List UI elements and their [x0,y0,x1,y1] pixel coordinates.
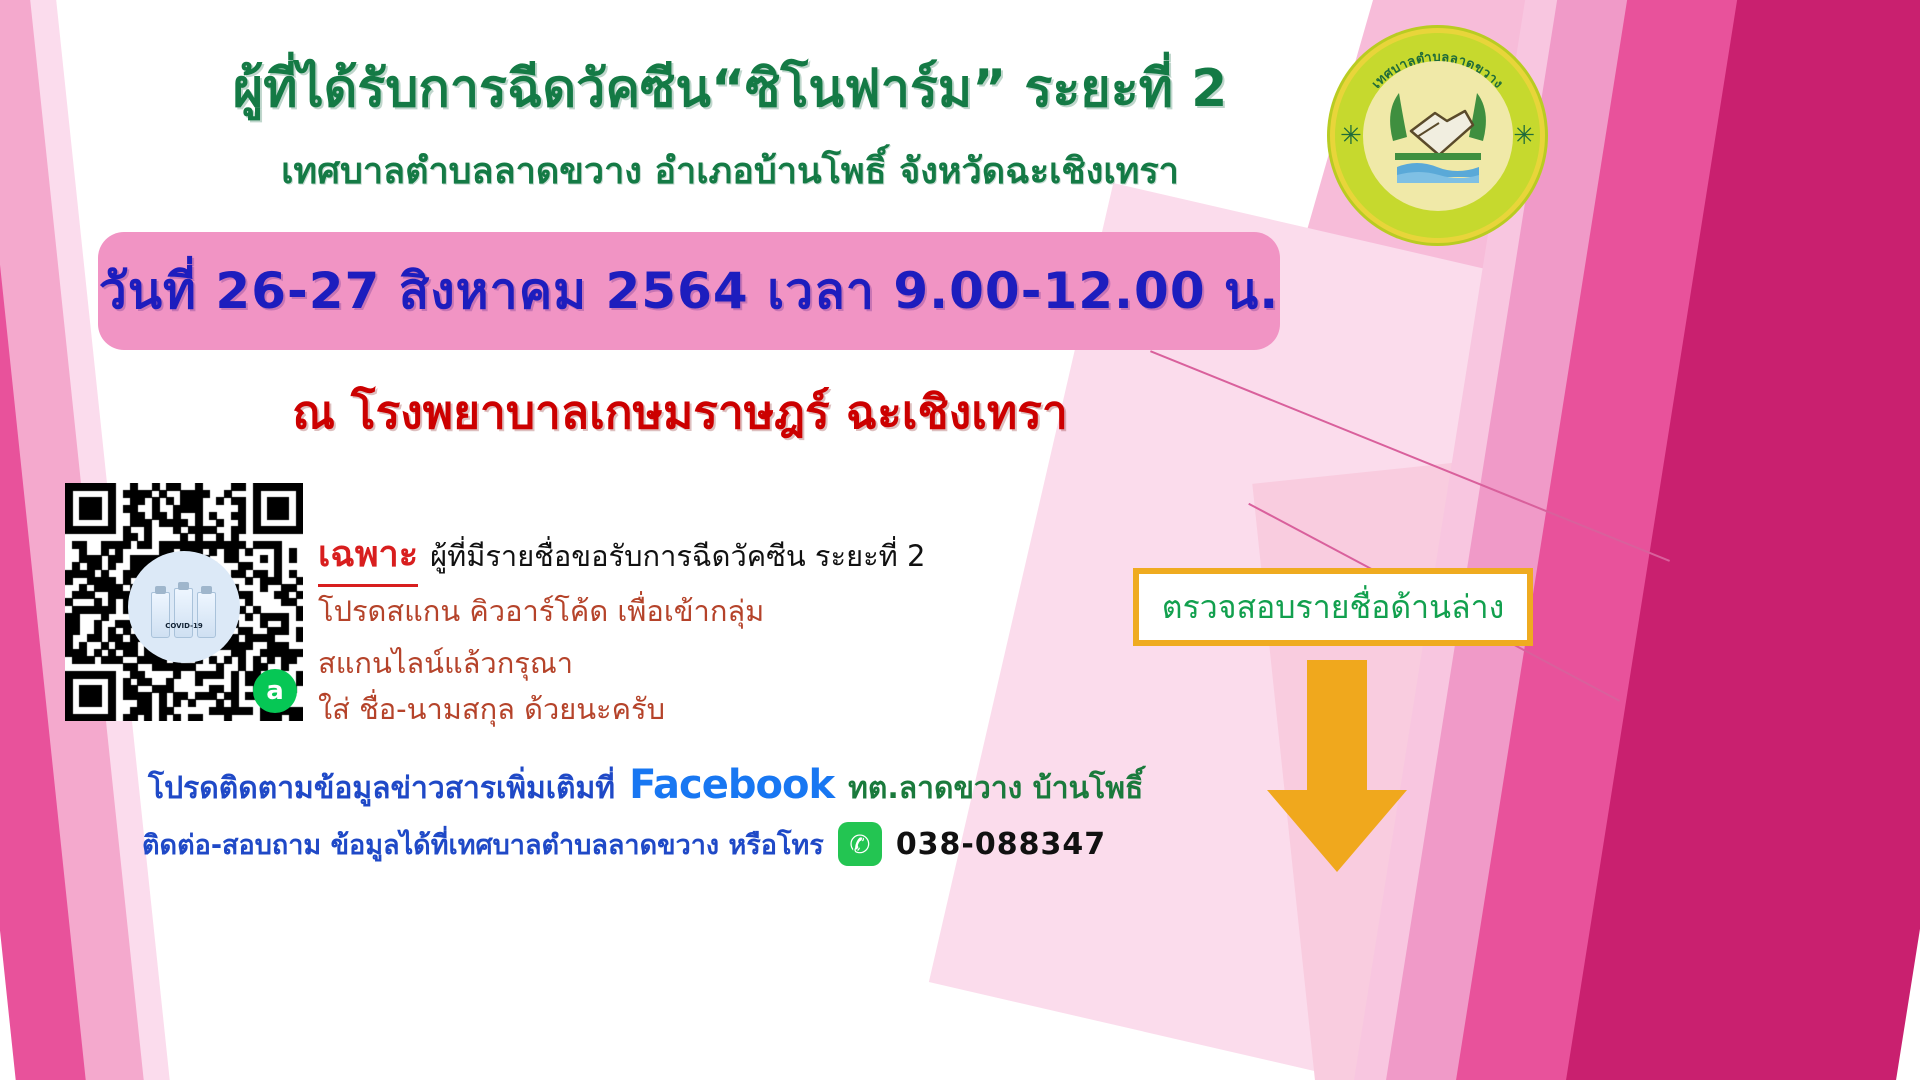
venue-text: ณ โรงพยาบาลเกษมราษฎร์ ฉะเชิงเทรา [150,376,1210,449]
facebook-page-name: ทต.ลาดขวาง บ้านโพธิ์ [848,765,1143,812]
date-banner: วันที่ 26-27 สิงหาคม 2564 เวลา 9.00-12.0… [98,232,1280,350]
poster-subtitle: เทศบาลตำบลลาดขวาง อำเภอบ้านโพธิ์ จังหวัด… [150,142,1310,199]
seal-star-left-icon: ✳ [1340,121,1362,151]
instruction-line-3: ใส่ ชื่อ-นามสกุล ด้วยนะครับ [318,686,665,732]
facebook-line[interactable]: โปรดติดตามข้อมูลข่าวสารเพิ่มเติมที่ Face… [148,762,1143,812]
instruction-line-2: สแกนไลน์แล้วกรุณา [318,640,573,686]
line-app-icon: a [253,669,297,713]
instruction-line-1: โปรดสแกน คิวอาร์โค้ด เพื่อเข้ากลุ่ม [318,588,764,634]
vaccine-vial-icon: COVID-19 [149,576,219,638]
poster-canvas: เทศบาลตำบลลาดขวาง จังหวัดฉะเชิงเทรา ✳ ✳ [0,0,1920,1080]
down-arrow-icon [1262,660,1412,875]
seal-hands-icon [1373,71,1503,201]
seal-star-right-icon: ✳ [1513,121,1535,151]
qr-center-badge: COVID-19 [128,551,240,663]
facebook-prefix-text: โปรดติดตามข้อมูลข่าวสารเพิ่มเติมที่ [148,765,615,812]
phone-icon: ✆ [838,822,882,866]
facebook-logo-text[interactable]: Facebook [629,762,834,808]
eligibility-line: เฉพาะ ผู้ที่มีรายชื่อขอรับการฉีดวัคซีน ร… [318,525,925,587]
telephone-prefix-text: ติดต่อ-สอบถาม ข้อมูลได้ที่เทศบาลตำบลลาดข… [142,823,824,866]
telephone-number[interactable]: 038-088347 [896,827,1106,862]
check-names-callout[interactable]: ตรวจสอบรายชื่อด้านล่าง [1133,568,1533,646]
poster-content: เทศบาลตำบลลาดขวาง จังหวัดฉะเชิงเทรา ✳ ✳ [0,0,1920,1080]
eligibility-keyword: เฉพาะ [318,525,418,587]
municipality-seal: เทศบาลตำบลลาดขวาง จังหวัดฉะเชิงเทรา ✳ ✳ [1330,28,1545,243]
qr-code[interactable]: COVID-19 a [65,483,303,721]
check-names-label: ตรวจสอบรายชื่อด้านล่าง [1162,582,1504,633]
eligibility-detail: ผู้ที่มีรายชื่อขอรับการฉีดวัคซีน ระยะที่… [430,533,925,579]
telephone-line: ติดต่อ-สอบถาม ข้อมูลได้ที่เทศบาลตำบลลาดข… [142,822,1106,866]
vial-label: COVID-19 [149,622,219,630]
seal-emblem [1363,61,1513,211]
date-banner-text: วันที่ 26-27 สิงหาคม 2564 เวลา 9.00-12.0… [99,252,1279,331]
poster-title: ผู้ที่ได้รับการฉีดวัคซีน“ซิโนฟาร์ม” ระยะ… [150,46,1310,129]
